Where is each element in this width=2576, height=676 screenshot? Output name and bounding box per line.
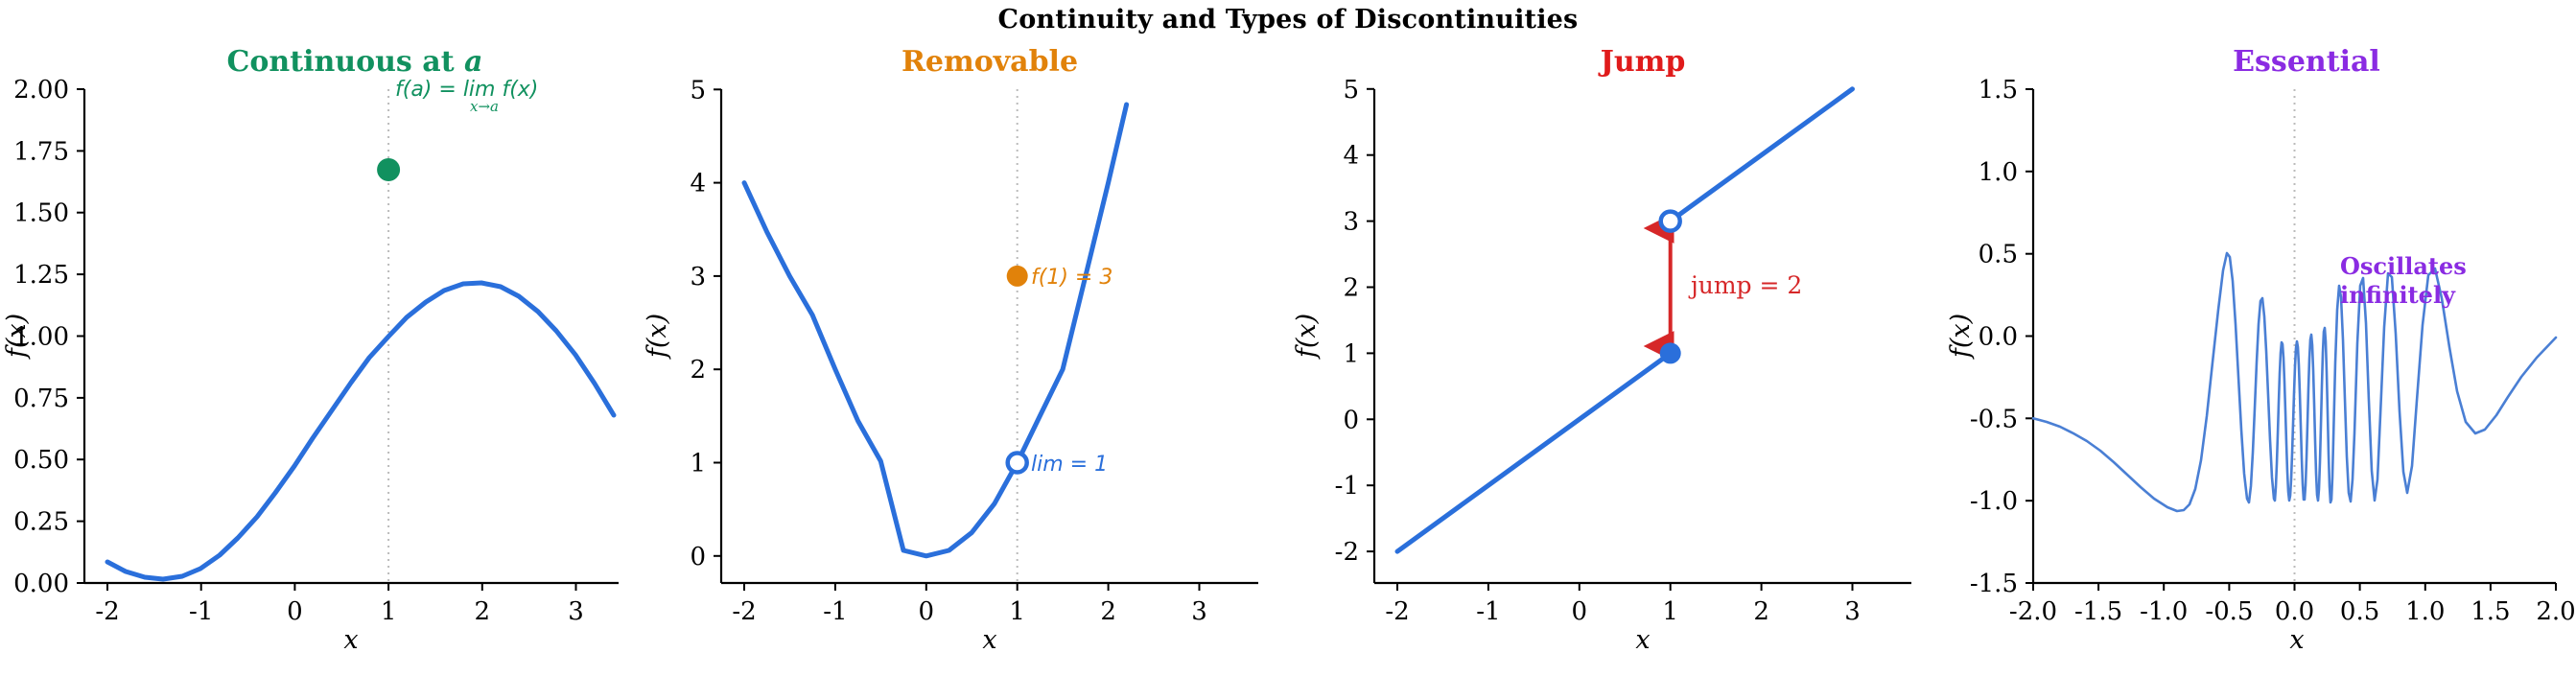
hole-marker	[1007, 454, 1026, 473]
x-tick-label: 1	[1662, 597, 1678, 626]
x-tick-label: 2	[475, 597, 491, 626]
annotation-limit: lim = 1	[1031, 453, 1108, 477]
figure-title: Continuity and Types of Discontinuities	[0, 5, 2576, 35]
x-tick-label: -2	[732, 597, 756, 626]
panel-continuous: 0.00 0.25 0.50 0.75 1.00 1.25 1.50 1.75	[0, 46, 644, 676]
y-tick-label: 4	[1343, 142, 1359, 171]
y-axis-label: f(x)	[1946, 314, 1976, 360]
y-tick-group: -1.5 -1.0 -0.5 0.0 0.5 1.0 1.5	[1969, 76, 2032, 598]
y-tick-label: 0.75	[13, 385, 69, 413]
y-tick-label: 3	[1343, 208, 1359, 237]
x-tick-label: -1	[1476, 597, 1500, 626]
panel-jump: -2 -1 0 1 2 3 4 5	[1288, 46, 1932, 676]
y-tick-label: 0.00	[13, 570, 69, 598]
x-tick-group: -2 -1 0 1 2 3	[732, 583, 1206, 626]
curve-path	[107, 283, 614, 579]
y-tick-label: 1	[690, 450, 706, 478]
y-tick-label: 0.5	[1978, 241, 2017, 269]
closed-endpoint-marker	[1660, 342, 1681, 363]
x-tick-label: 0.0	[2274, 597, 2313, 626]
x-tick-label: -2	[1385, 597, 1409, 626]
y-tick-label: -0.5	[1969, 405, 2017, 433]
x-tick-label: 2.0	[2536, 597, 2575, 626]
y-tick-label: 5	[690, 76, 706, 105]
x-axis-label: x	[982, 625, 996, 655]
x-tick-group: -2 -1 0 1 2 3	[1385, 583, 1860, 626]
annotation-continuity: f(a) = lim f(x) x→a	[395, 78, 538, 115]
y-tick-label: 1.50	[13, 199, 69, 228]
x-axis-label: x	[1635, 625, 1650, 655]
x-tick-label: -0.5	[2205, 597, 2253, 626]
y-tick-label: 2.00	[13, 76, 69, 105]
panel-essential: -1.5 -1.0 -0.5 0.0 0.5 1.0 1.5 -2.	[1932, 46, 2576, 676]
y-axis-label: f(x)	[1292, 314, 1322, 360]
panel-container: 0.00 0.25 0.50 0.75 1.00 1.25 1.50 1.75	[0, 46, 2576, 676]
annotation-text: f(a) = lim f(x)	[395, 78, 538, 102]
y-tick-label: 1.0	[1978, 158, 2017, 187]
y-tick-label: -1	[1335, 472, 1359, 501]
x-axis-label: x	[2289, 625, 2304, 655]
curve-path	[744, 105, 1127, 556]
annotation-line-2: infinitely	[2340, 281, 2456, 309]
y-tick-label: 1.75	[13, 137, 69, 166]
y-tick-label: 3	[690, 263, 706, 291]
panel-removable: 0 1 2 3 4 5 -2 -1	[644, 46, 1289, 676]
y-tick-label: 0.25	[13, 508, 69, 537]
y-tick-label: -2	[1335, 538, 1359, 567]
y-tick-label: 1	[1343, 339, 1359, 368]
panel-title-removable: Removable	[901, 46, 1077, 79]
x-tick-label: -1.5	[2074, 597, 2122, 626]
x-tick-label: 1	[1009, 597, 1025, 626]
curve-left-branch	[1397, 353, 1671, 551]
x-tick-label: 0	[287, 597, 303, 626]
x-tick-label: -2	[95, 597, 119, 626]
y-tick-label: 0	[1343, 406, 1359, 434]
x-tick-label: 0	[1572, 597, 1588, 626]
x-tick-label: 3	[1191, 597, 1207, 626]
x-tick-label: 0	[918, 597, 934, 626]
x-tick-label: 2	[1100, 597, 1116, 626]
x-tick-label: -1	[823, 597, 847, 626]
x-tick-group: -2.0 -1.5 -1.0 -0.5 0.0 0.5 1.0 1.5	[2008, 583, 2575, 626]
x-tick-label: -1.0	[2140, 597, 2188, 626]
annotation-line-1: Oscillates	[2340, 252, 2467, 280]
y-axis-label: f(x)	[644, 314, 672, 360]
y-tick-label: -1.5	[1969, 570, 2017, 598]
annotation-value: f(1) = 3	[1031, 266, 1112, 290]
plot-jump: -2 -1 0 1 2 3 4 5	[1288, 46, 1932, 676]
y-tick-label: 2	[690, 356, 706, 385]
y-tick-label: 1.5	[1978, 76, 2017, 105]
y-tick-group: -2 -1 0 1 2 3 4 5	[1335, 76, 1374, 567]
panel-title-continuous: Continuous at a	[227, 46, 483, 79]
y-tick-group: 0 1 2 3 4 5	[690, 76, 721, 571]
plot-essential: -1.5 -1.0 -0.5 0.0 0.5 1.0 1.5 -2.	[1932, 46, 2576, 676]
x-tick-label: -1	[189, 597, 213, 626]
x-tick-label: 3	[1844, 597, 1861, 626]
x-tick-group: -2 -1 0 1 2 3	[95, 583, 583, 626]
open-endpoint-marker	[1661, 212, 1680, 231]
y-tick-label: 0.0	[1978, 323, 2017, 352]
x-tick-label: -2.0	[2008, 597, 2056, 626]
plot-removable: 0 1 2 3 4 5 -2 -1	[644, 46, 1288, 676]
x-tick-label: 0.5	[2339, 597, 2378, 626]
y-tick-label: 2	[1343, 274, 1359, 303]
figure-root: Continuity and Types of Discontinuities …	[0, 0, 2576, 676]
y-tick-label: 1.25	[13, 261, 69, 290]
continuity-point-marker	[377, 158, 400, 181]
y-tick-label: -1.0	[1969, 487, 2017, 516]
x-tick-label: 1	[381, 597, 397, 626]
x-tick-label: 1.5	[2471, 597, 2510, 626]
annotation-oscillates: Oscillates infinitely	[2340, 252, 2467, 309]
y-tick-label: 0	[690, 543, 706, 571]
y-axis-label: f(x)	[2, 314, 32, 360]
annotation-jump: jump = 2	[1688, 271, 1802, 299]
annotation-subscript: x→a	[470, 98, 499, 115]
y-tick-label: 0.50	[13, 446, 69, 475]
x-tick-label: 3	[568, 597, 584, 626]
x-tick-label: 1.0	[2405, 597, 2445, 626]
y-tick-label: 5	[1343, 76, 1359, 105]
panel-title-essential: Essential	[2233, 46, 2380, 79]
value-point-marker	[1006, 266, 1027, 287]
curve-right-branch	[1671, 89, 1853, 221]
y-tick-label: 4	[690, 170, 706, 198]
plot-continuous: 0.00 0.25 0.50 0.75 1.00 1.25 1.50 1.75	[0, 46, 644, 676]
panel-title-jump: Jump	[1598, 46, 1686, 79]
x-axis-label: x	[343, 625, 358, 655]
x-tick-label: 2	[1753, 597, 1769, 626]
